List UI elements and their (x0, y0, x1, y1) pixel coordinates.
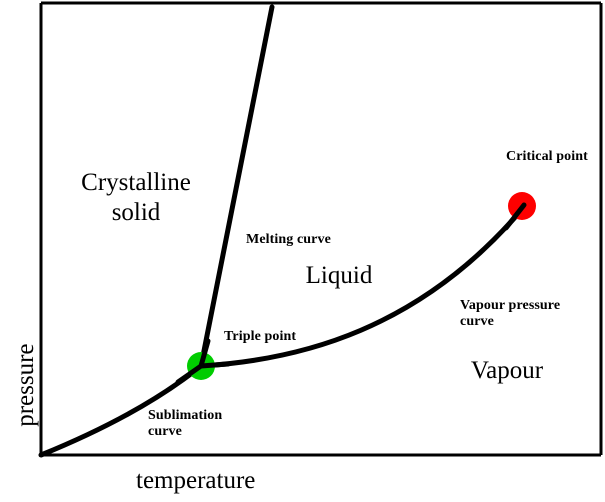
curve-label-sublimation: Sublimation curve (148, 408, 222, 439)
point-label-critical: Critical point (506, 149, 588, 165)
phase-diagram-canvas (0, 0, 605, 502)
melting-curve-path (201, 7, 272, 366)
y-axis-title: pressure (13, 330, 39, 440)
curve-label-vapour-pressure: Vapour pressure curve (460, 298, 560, 329)
phase-diagram-figure: Crystalline solid Liquid Vapour Melting … (0, 0, 605, 502)
region-label-crystalline-solid: Crystalline solid (66, 168, 206, 227)
x-axis-title: temperature (136, 468, 255, 494)
region-label-liquid: Liquid (284, 263, 394, 289)
region-label-vapour: Vapour (452, 358, 562, 384)
point-label-triple: Triple point (224, 329, 296, 345)
curve-label-melting: Melting curve (246, 232, 331, 248)
triple-point-vapour-stub (201, 364, 228, 366)
